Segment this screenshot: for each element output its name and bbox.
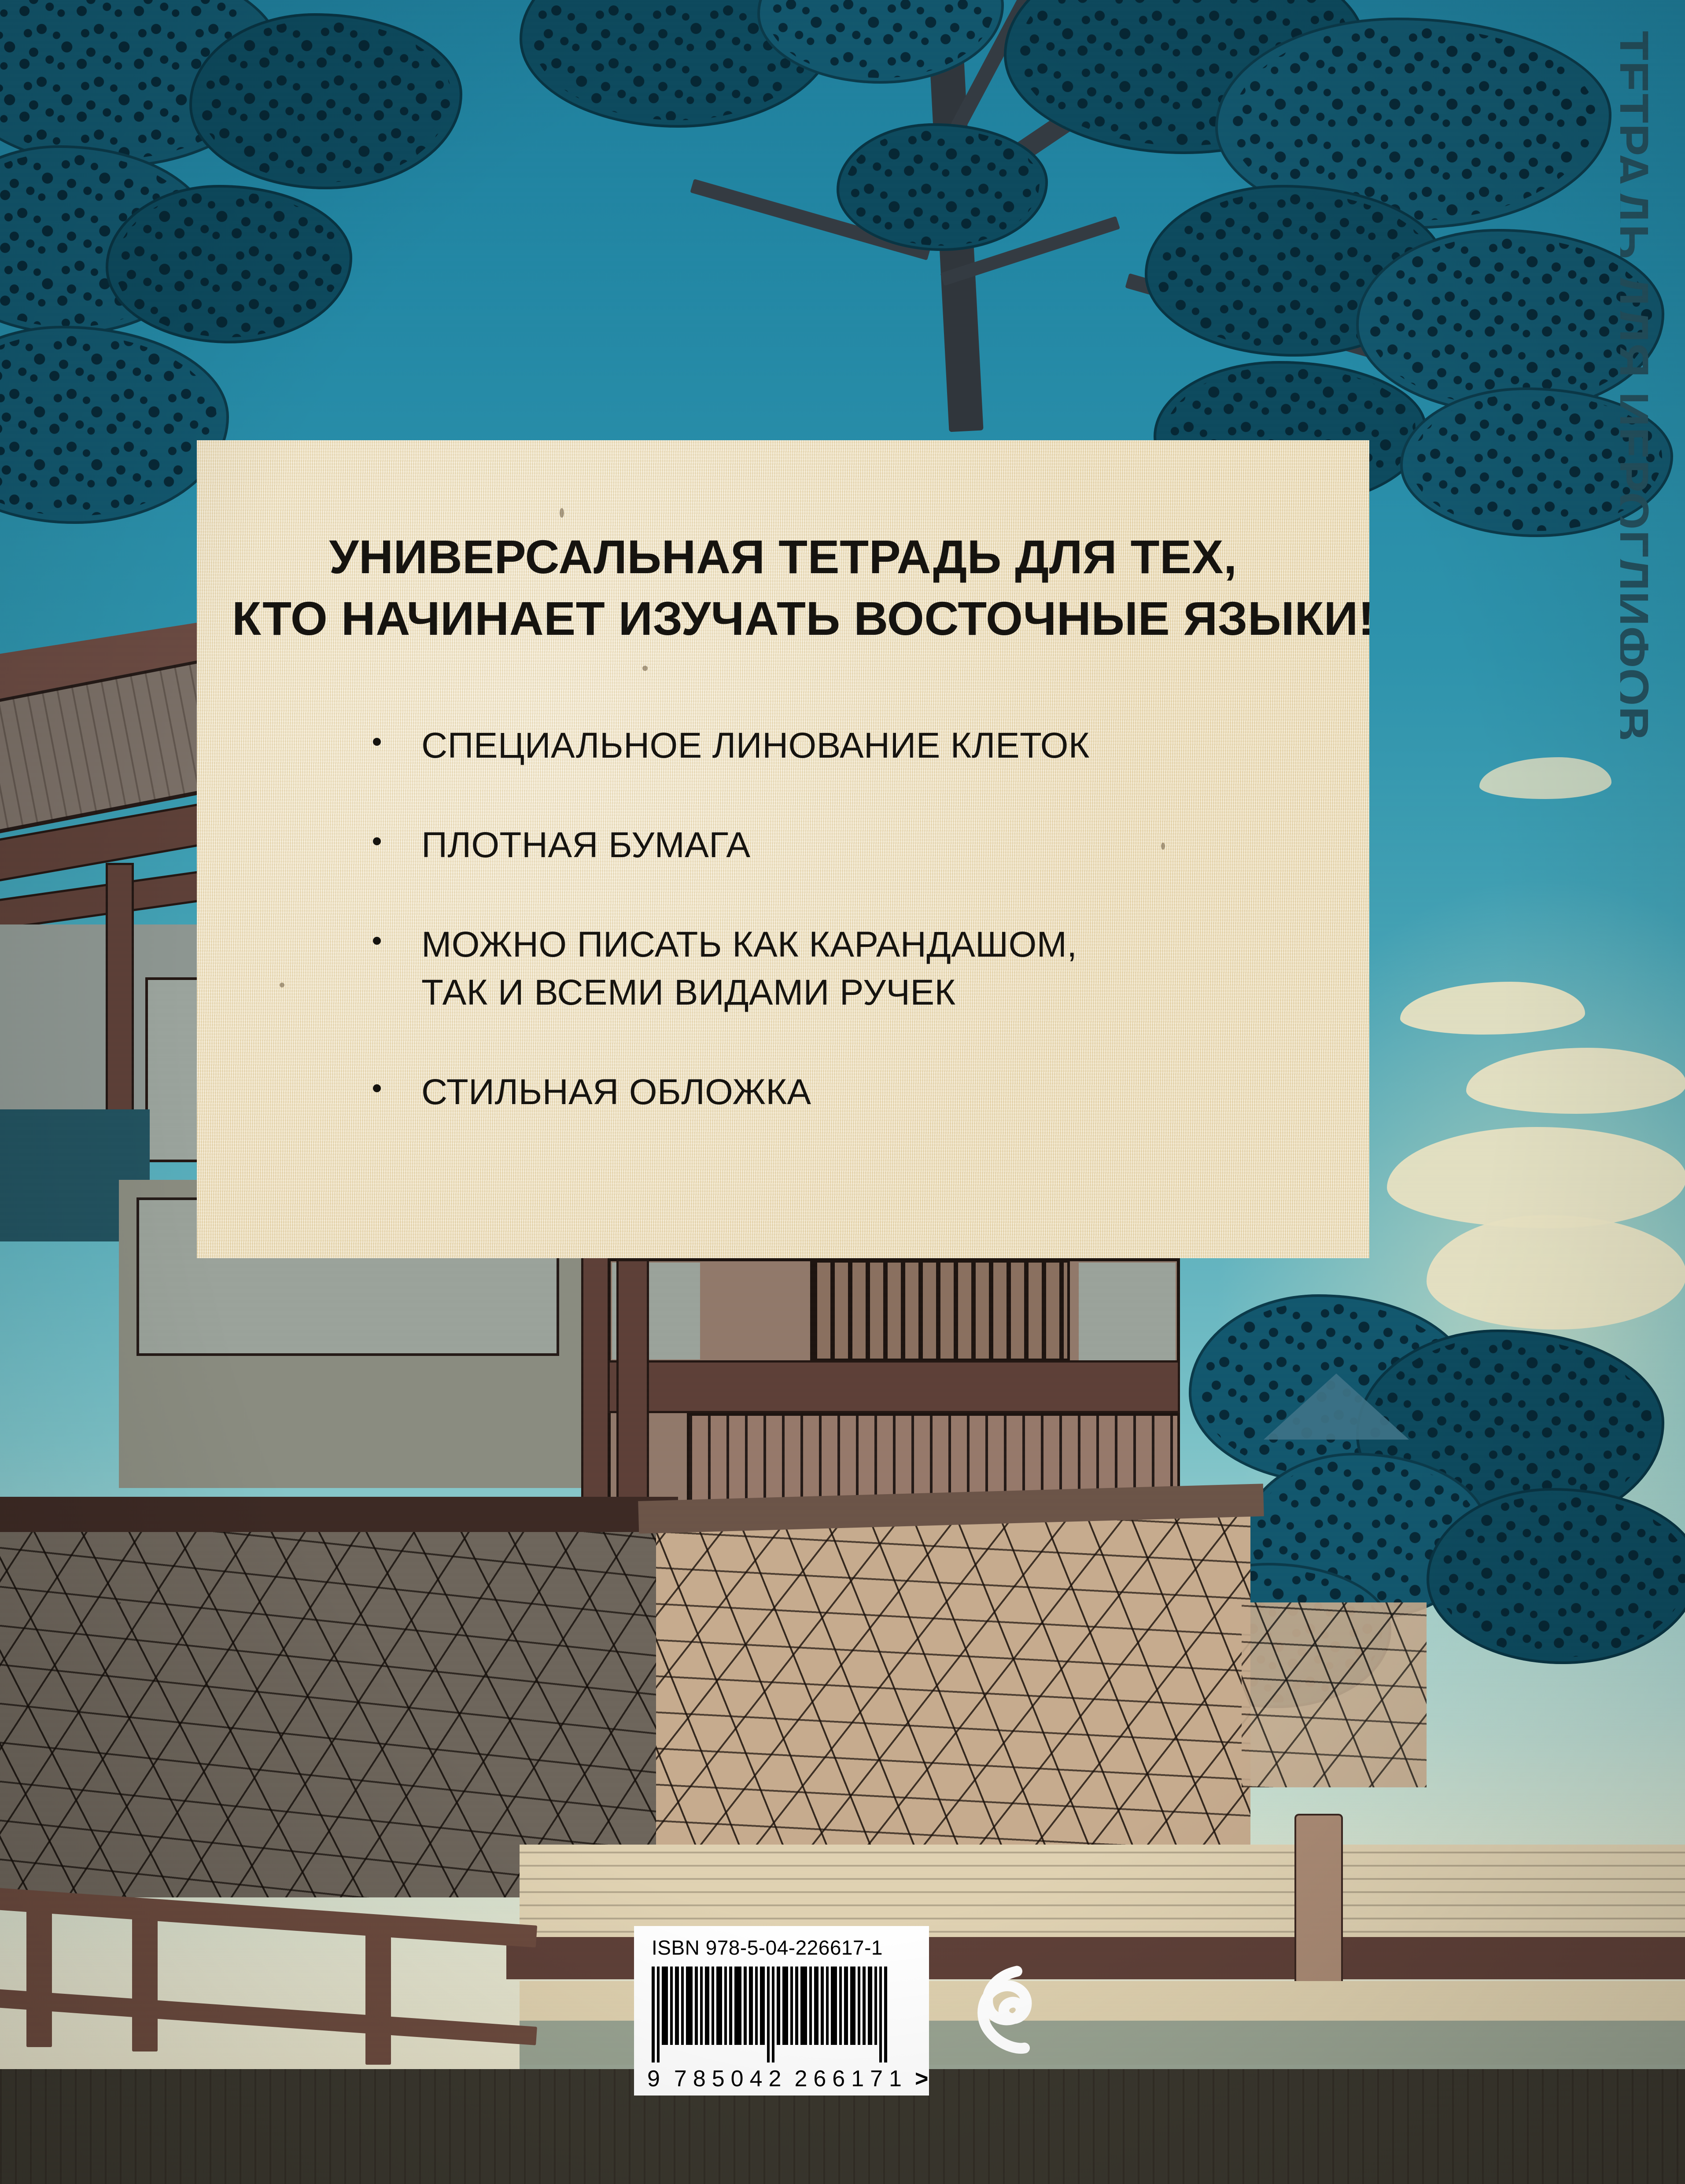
eksmo-swirl-logo — [964, 1961, 1048, 2065]
spine-title: ТЕТРАДЬ ДЛЯ ИЕРОГЛИФОВ — [1620, 31, 1659, 742]
feature-line: ПЛОТНАЯ БУМАГА — [421, 821, 750, 869]
book-spine: ТЕТРАДЬ ДЛЯ ИЕРОГЛИФОВ — [1620, 0, 1685, 2184]
bullet-dot-icon — [373, 1084, 381, 1092]
feature-line: МОЖНО ПИСАТЬ КАК КАРАНДАШОМ, — [421, 921, 1077, 969]
paper-speck — [642, 666, 648, 671]
paper-speck — [560, 508, 564, 518]
paper-speck — [280, 983, 284, 987]
list-item: СТИЛЬНАЯ ОБЛОЖКА — [373, 1068, 1316, 1116]
feature-line: СПЕЦИАЛЬНОЕ ЛИНОВАНИЕ КЛЕТОК — [421, 722, 1090, 770]
feature-line: ТАК И ВСЕМИ ВИДАМИ РУЧЕК — [421, 969, 1077, 1016]
feature-list: СПЕЦИАЛЬНОЕ ЛИНОВАНИЕ КЛЕТОК ПЛОТНАЯ БУМ… — [373, 722, 1316, 1116]
headline-line-2: КТО НАЧИНАЕТ ИЗУЧАТЬ ВОСТОЧНЫЕ ЯЗЫКИ! — [232, 588, 1334, 649]
barcode-block: ISBN 978-5-04-226617-1 — [634, 1926, 929, 2096]
stone-wall-right — [1242, 1602, 1427, 1787]
stone-wall-cap — [0, 1497, 678, 1532]
headline-line-1: УНИВЕРСАЛЬНАЯ ТЕТРАДЬ ДЛЯ ТЕХ, — [232, 526, 1334, 588]
veranda-slat-window — [810, 1260, 1070, 1361]
barcode-terminator: > — [915, 2066, 929, 2092]
fence-post — [26, 1897, 52, 2047]
barcode-digit-left: 9 — [647, 2066, 661, 2092]
bullet-dot-icon — [373, 937, 381, 945]
feature-text: СТИЛЬНАЯ ОБЛОЖКА — [421, 1068, 811, 1116]
list-item: СПЕЦИАЛЬНОЕ ЛИНОВАНИЕ КЛЕТОК — [373, 722, 1316, 770]
feature-text: СПЕЦИАЛЬНОЕ ЛИНОВАНИЕ КЛЕТОК — [421, 722, 1090, 770]
veranda-crossbeam — [608, 1360, 1180, 1413]
feature-line: СТИЛЬНАЯ ОБЛОЖКА — [421, 1068, 811, 1116]
list-item: МОЖНО ПИСАТЬ КАК КАРАНДАШОМ, ТАК И ВСЕМИ… — [373, 921, 1316, 1016]
stone-wall-light — [656, 1514, 1250, 1858]
feature-text: ПЛОТНАЯ БУМАГА — [421, 821, 750, 869]
fence-post — [132, 1906, 158, 2051]
bullet-dot-icon — [373, 738, 381, 746]
veranda-panel-right — [1079, 1263, 1176, 1360]
fence-post — [365, 1919, 391, 2065]
barcode-bars — [652, 1967, 918, 2062]
info-panel: УНИВЕРСАЛЬНАЯ ТЕТРАДЬ ДЛЯ ТЕХ, КТО НАЧИН… — [197, 440, 1369, 1258]
isbn-label: ISBN 978-5-04-226617-1 — [652, 1936, 918, 1959]
stone-wall-dark — [0, 1510, 669, 1897]
list-item: ПЛОТНАЯ БУМАГА — [373, 821, 1316, 869]
bridge-post — [1294, 1814, 1343, 1999]
panel-headline: УНИВЕРСАЛЬНАЯ ТЕТРАДЬ ДЛЯ ТЕХ, КТО НАЧИН… — [197, 526, 1369, 650]
book-back-cover: УНИВЕРСАЛЬНАЯ ТЕТРАДЬ ДЛЯ ТЕХ, КТО НАЧИН… — [0, 0, 1685, 2184]
barcode-digit-group-2: 266171 — [794, 2066, 908, 2092]
barcode-digit-group-1: 785042 — [674, 2066, 788, 2092]
feature-text: МОЖНО ПИСАТЬ КАК КАРАНДАШОМ, ТАК И ВСЕМИ… — [421, 921, 1077, 1016]
barcode-digits: 9 785042 266171 > — [645, 2066, 918, 2092]
bullet-dot-icon — [373, 837, 381, 845]
